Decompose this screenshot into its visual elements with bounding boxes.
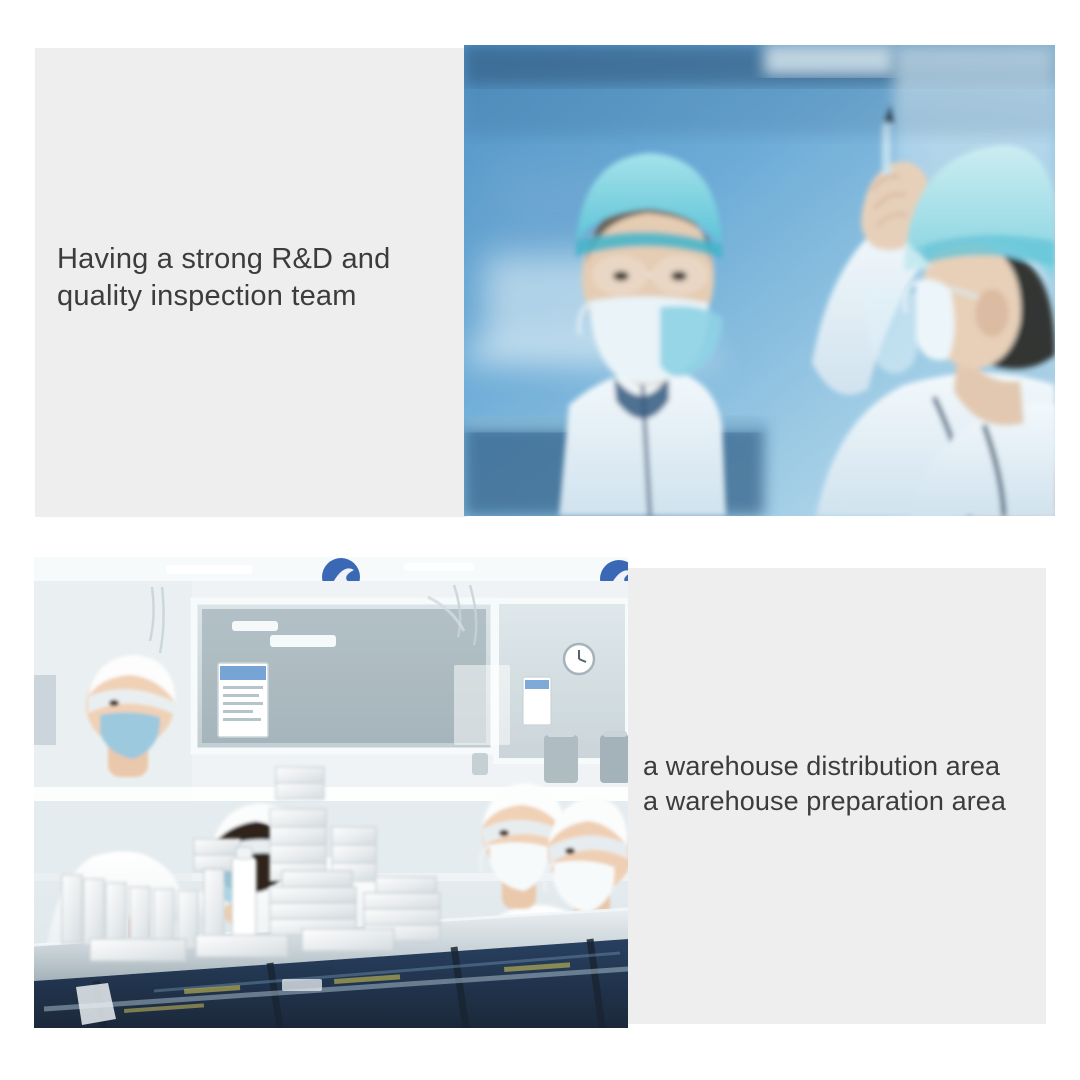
banner-page: Having a strong R&D and quality inspecti… (0, 0, 1080, 1080)
caption-rnd-quality: Having a strong R&D and quality inspecti… (57, 241, 457, 315)
lab-technicians-photo (464, 45, 1055, 516)
section-warehouse: a warehouse distribution area a warehous… (34, 557, 1046, 1028)
warehouse-packing-photo (34, 557, 628, 1028)
lab-scene-art (464, 45, 1055, 516)
caption-warehouse: a warehouse distribution area a warehous… (643, 749, 1053, 819)
warehouse-scene-art (34, 557, 628, 1028)
section-rnd-quality: Having a strong R&D and quality inspecti… (35, 45, 1055, 517)
